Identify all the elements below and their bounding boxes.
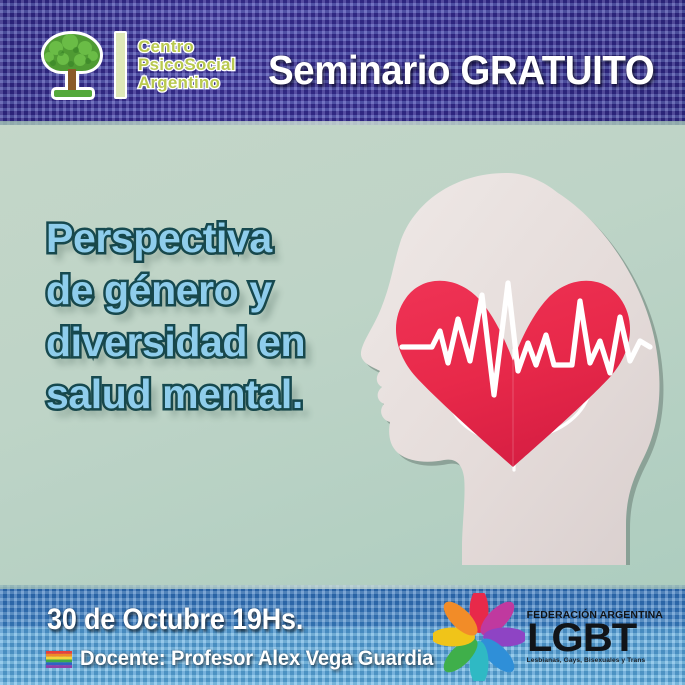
header-banner: Centro PsicoSocial Argentino Seminario G… bbox=[0, 0, 685, 125]
title-line-3: diversidad en bbox=[46, 316, 376, 368]
head-illustration bbox=[358, 165, 668, 565]
poster-title: Perspectiva de género y diversidad en sa… bbox=[46, 212, 376, 420]
footer-banner: 30 de Octubre 19Hs. Docente: Profesor Al… bbox=[0, 585, 685, 685]
brand-line-2: PsicoSocial bbox=[138, 56, 236, 73]
rainbow-pride-flag-icon bbox=[46, 651, 72, 668]
brand-line-3: Argentino bbox=[138, 74, 236, 91]
brand-logo: Centro PsicoSocial Argentino bbox=[38, 28, 236, 102]
title-line-4: salud mental. bbox=[46, 368, 376, 420]
poster-canvas: Centro PsicoSocial Argentino Seminario G… bbox=[0, 0, 685, 685]
logo-divider bbox=[114, 31, 127, 99]
lgbt-acronym: LGBT bbox=[527, 620, 669, 657]
brand-name: Centro PsicoSocial Argentino bbox=[138, 38, 236, 92]
teacher-name: Docente: Profesor Alex Vega Guardia bbox=[80, 647, 433, 671]
title-line-1: Perspectiva bbox=[46, 212, 376, 264]
tree-icon bbox=[38, 28, 106, 102]
lgbt-partner-logo: FEDERACIÓN ARGENTINA LGBT Lesbianas, Gay… bbox=[433, 593, 663, 681]
event-date: 30 de Octubre 19Hs. bbox=[47, 603, 303, 637]
title-line-2: de género y bbox=[46, 264, 376, 316]
lgbt-flower-icon bbox=[433, 593, 525, 681]
brand-line-1: Centro bbox=[138, 38, 236, 55]
lgbt-wordmark: FEDERACIÓN ARGENTINA LGBT Lesbianas, Gay… bbox=[527, 610, 663, 665]
seminar-headline: Seminario GRATUITO bbox=[268, 47, 654, 94]
teacher-credit: Docente: Profesor Alex Vega Guardia bbox=[46, 647, 448, 671]
